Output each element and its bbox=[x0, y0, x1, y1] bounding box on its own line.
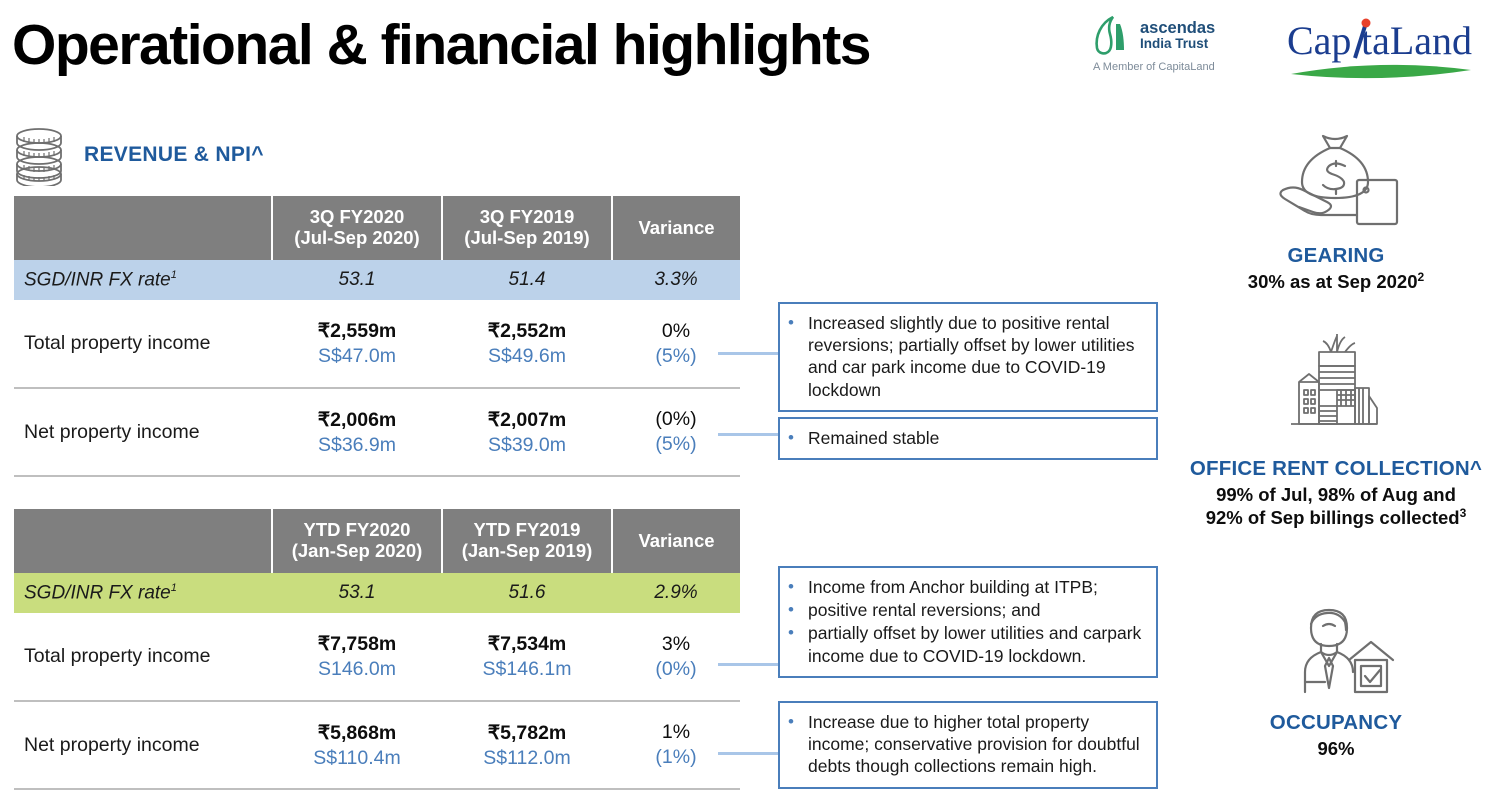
stat-value-line2: 92% of Sep billings collected bbox=[1206, 507, 1460, 528]
row-label: Total property income bbox=[14, 300, 272, 388]
callout-net-property-income-3q: •Remained stable bbox=[778, 417, 1158, 460]
row-value-1: ₹2,559m S$47.0m bbox=[272, 300, 442, 388]
header-bottom: (Jul-Sep 2019) bbox=[464, 227, 589, 248]
capitaland-logo: Cap taLand bbox=[1285, 14, 1475, 91]
callout-bullet-text: Remained stable bbox=[808, 427, 939, 449]
row-value-1: ₹7,758m S146.0m bbox=[272, 613, 442, 701]
value-inr: ₹2,006m bbox=[272, 408, 442, 432]
office-buildings-icon bbox=[1261, 326, 1411, 451]
stat-office-rent-collection: OFFICE RENT COLLECTION^ 99% of Jul, 98% … bbox=[1186, 326, 1486, 529]
column-header-blank bbox=[14, 509, 272, 573]
callout-bullet: •Remained stable bbox=[788, 427, 1146, 449]
stat-label: OFFICE RENT COLLECTION^ bbox=[1186, 457, 1486, 481]
stat-value-footnote: 2 bbox=[1418, 270, 1425, 284]
callout-bullet-text: partially offset by lower utilities and … bbox=[808, 622, 1146, 666]
table-row: Total property income ₹2,559m S$47.0m ₹2… bbox=[14, 300, 740, 388]
callout-connector-line bbox=[718, 433, 778, 436]
stat-occupancy: OCCUPANCY 96% bbox=[1186, 600, 1486, 760]
row-variance: 3% (0%) bbox=[612, 613, 740, 701]
value-sgd: S$146.1m bbox=[442, 658, 612, 681]
column-header-blank bbox=[14, 196, 272, 260]
fx-rate-variance: 2.9% bbox=[612, 573, 740, 613]
variance-inr: 3% bbox=[612, 633, 740, 656]
stat-value: 99% of Jul, 98% of Aug and 92% of Sep bi… bbox=[1186, 483, 1486, 529]
money-bag-on-hand-icon bbox=[1261, 128, 1411, 238]
person-with-house-check-icon bbox=[1261, 600, 1411, 705]
value-sgd: S$47.0m bbox=[272, 345, 442, 368]
fx-rate-value-1: 53.1 bbox=[272, 573, 442, 613]
row-value-1: ₹5,868m S$110.4m bbox=[272, 701, 442, 789]
stat-label: GEARING bbox=[1186, 244, 1486, 268]
variance-inr: 0% bbox=[612, 320, 740, 343]
table-row: Net property income ₹5,868m S$110.4m ₹5,… bbox=[14, 701, 740, 789]
value-inr: ₹7,534m bbox=[442, 632, 612, 656]
column-header-period-1: YTD FY2020 (Jan-Sep 2020) bbox=[272, 509, 442, 573]
fx-label-footnote: 1 bbox=[171, 269, 177, 281]
stat-value: 30% as at Sep 20202 bbox=[1186, 270, 1486, 293]
value-inr: ₹7,758m bbox=[272, 632, 442, 656]
svg-text:taLand: taLand bbox=[1361, 18, 1472, 63]
callout-bullet-text: Increased slightly due to positive renta… bbox=[808, 312, 1146, 401]
callout-bullet: •Increased slightly due to positive rent… bbox=[788, 312, 1146, 401]
logo-area: ascendas India Trust A Member of CapitaL… bbox=[1093, 14, 1475, 91]
value-sgd: S146.0m bbox=[272, 658, 442, 681]
section-title: REVENUE & NPI^ bbox=[84, 143, 264, 167]
bullet-icon: • bbox=[788, 427, 808, 449]
row-variance: 0% (5%) bbox=[612, 300, 740, 388]
svg-text:Cap: Cap bbox=[1287, 18, 1351, 63]
value-sgd: S$110.4m bbox=[272, 747, 442, 770]
table-row: Net property income ₹2,006m S$36.9m ₹2,0… bbox=[14, 388, 740, 476]
row-label: Total property income bbox=[14, 613, 272, 701]
fx-rate-label: SGD/INR FX rate1 bbox=[14, 573, 272, 613]
callout-bullet: •Increase due to higher total property i… bbox=[788, 711, 1146, 778]
column-header-period-1: 3Q FY2020 (Jul-Sep 2020) bbox=[272, 196, 442, 260]
page-title: Operational & financial highlights bbox=[12, 12, 870, 78]
section-heading: REVENUE & NPI^ bbox=[8, 124, 264, 186]
value-sgd: S$39.0m bbox=[442, 434, 612, 457]
value-inr: ₹2,559m bbox=[272, 319, 442, 343]
ait-logo-line1: ascendas bbox=[1140, 20, 1215, 37]
bullet-icon: • bbox=[788, 711, 808, 778]
header-top: 3Q FY2020 bbox=[310, 206, 405, 227]
callout-bullet-text: positive rental reversions; and bbox=[808, 599, 1040, 621]
variance-sgd: (1%) bbox=[612, 746, 740, 769]
variance-inr: (0%) bbox=[612, 408, 740, 431]
value-sgd: S$36.9m bbox=[272, 434, 442, 457]
callout-bullet-text: Increase due to higher total property in… bbox=[808, 711, 1146, 778]
stat-value-text: 30% as at Sep 2020 bbox=[1248, 271, 1418, 292]
table-header-row: YTD FY2020 (Jan-Sep 2020) YTD FY2019 (Ja… bbox=[14, 509, 740, 573]
callout-bullet: •partially offset by lower utilities and… bbox=[788, 622, 1146, 666]
callout-bullet-text: Income from Anchor building at ITPB; bbox=[808, 576, 1098, 598]
header-bottom: (Jan-Sep 2020) bbox=[292, 540, 423, 561]
value-sgd: S$112.0m bbox=[442, 747, 612, 770]
stat-value-footnote: 3 bbox=[1460, 506, 1467, 520]
fx-rate-label: SGD/INR FX rate1 bbox=[14, 260, 272, 300]
row-variance: (0%) (5%) bbox=[612, 388, 740, 476]
callout-total-property-income-ytd: •Income from Anchor building at ITPB; •p… bbox=[778, 566, 1158, 678]
header-bottom: (Jan-Sep 2019) bbox=[462, 540, 593, 561]
fx-rate-row: SGD/INR FX rate1 53.1 51.6 2.9% bbox=[14, 573, 740, 613]
callout-connector-line bbox=[718, 663, 778, 666]
fx-rate-value-2: 51.4 bbox=[442, 260, 612, 300]
ascendas-mark-icon bbox=[1093, 14, 1133, 56]
header-bottom: (Jul-Sep 2020) bbox=[294, 227, 419, 248]
variance-sgd: (5%) bbox=[612, 345, 740, 368]
ait-logo-line2: India Trust bbox=[1140, 37, 1215, 51]
variance-sgd: (0%) bbox=[612, 658, 740, 681]
bullet-icon: • bbox=[788, 576, 808, 598]
fx-label-text: SGD/INR FX rate bbox=[24, 269, 171, 290]
column-header-period-2: YTD FY2019 (Jan-Sep 2019) bbox=[442, 509, 612, 573]
variance-sgd: (5%) bbox=[612, 433, 740, 456]
row-value-1: ₹2,006m S$36.9m bbox=[272, 388, 442, 476]
column-header-variance: Variance bbox=[612, 509, 740, 573]
callout-bullet: •Income from Anchor building at ITPB; bbox=[788, 576, 1146, 598]
table-ytd-revenue-npi: YTD FY2020 (Jan-Sep 2020) YTD FY2019 (Ja… bbox=[14, 509, 740, 790]
callout-bullet: •positive rental reversions; and bbox=[788, 599, 1146, 621]
stat-value-line1: 99% of Jul, 98% of Aug and bbox=[1216, 484, 1456, 505]
value-sgd: S$49.6m bbox=[442, 345, 612, 368]
bullet-icon: • bbox=[788, 599, 808, 621]
bullet-icon: • bbox=[788, 622, 808, 666]
fx-rate-row: SGD/INR FX rate1 53.1 51.4 3.3% bbox=[14, 260, 740, 300]
header-top: YTD FY2019 bbox=[474, 519, 581, 540]
row-value-2: ₹7,534m S$146.1m bbox=[442, 613, 612, 701]
stat-label: OCCUPANCY bbox=[1186, 711, 1486, 735]
fx-rate-value-1: 53.1 bbox=[272, 260, 442, 300]
callout-connector-line bbox=[718, 752, 778, 755]
variance-inr: 1% bbox=[612, 721, 740, 744]
header-top: 3Q FY2019 bbox=[480, 206, 575, 227]
value-inr: ₹2,007m bbox=[442, 408, 612, 432]
ait-member-text: A Member of CapitaLand bbox=[1093, 61, 1243, 73]
fx-rate-value-2: 51.6 bbox=[442, 573, 612, 613]
column-header-variance: Variance bbox=[612, 196, 740, 260]
row-label: Net property income bbox=[14, 388, 272, 476]
value-inr: ₹5,782m bbox=[442, 721, 612, 745]
capitaland-wordmark-icon: Cap taLand bbox=[1285, 14, 1475, 86]
fx-label-footnote: 1 bbox=[171, 582, 177, 594]
value-inr: ₹5,868m bbox=[272, 721, 442, 745]
row-variance: 1% (1%) bbox=[612, 701, 740, 789]
table-header-row: 3Q FY2020 (Jul-Sep 2020) 3Q FY2019 (Jul-… bbox=[14, 196, 740, 260]
fx-rate-variance: 3.3% bbox=[612, 260, 740, 300]
callout-connector-line bbox=[718, 352, 778, 355]
stat-gearing: GEARING 30% as at Sep 20202 bbox=[1186, 128, 1486, 293]
table-3q-revenue-npi: 3Q FY2020 (Jul-Sep 2020) 3Q FY2019 (Jul-… bbox=[14, 196, 740, 477]
bullet-icon: • bbox=[788, 312, 808, 401]
header-top: YTD FY2020 bbox=[304, 519, 411, 540]
value-inr: ₹2,552m bbox=[442, 319, 612, 343]
table-row: Total property income ₹7,758m S146.0m ₹7… bbox=[14, 613, 740, 701]
stat-value: 96% bbox=[1186, 737, 1486, 760]
callout-total-property-income-3q: •Increased slightly due to positive rent… bbox=[778, 302, 1158, 412]
ascendas-india-trust-logo: ascendas India Trust A Member of CapitaL… bbox=[1093, 14, 1243, 73]
row-value-2: ₹2,552m S$49.6m bbox=[442, 300, 612, 388]
fx-label-text: SGD/INR FX rate bbox=[24, 582, 171, 603]
row-value-2: ₹5,782m S$112.0m bbox=[442, 701, 612, 789]
row-value-2: ₹2,007m S$39.0m bbox=[442, 388, 612, 476]
row-label: Net property income bbox=[14, 701, 272, 789]
callout-net-property-income-ytd: •Increase due to higher total property i… bbox=[778, 701, 1158, 789]
coins-icon bbox=[8, 124, 70, 186]
column-header-period-2: 3Q FY2019 (Jul-Sep 2019) bbox=[442, 196, 612, 260]
